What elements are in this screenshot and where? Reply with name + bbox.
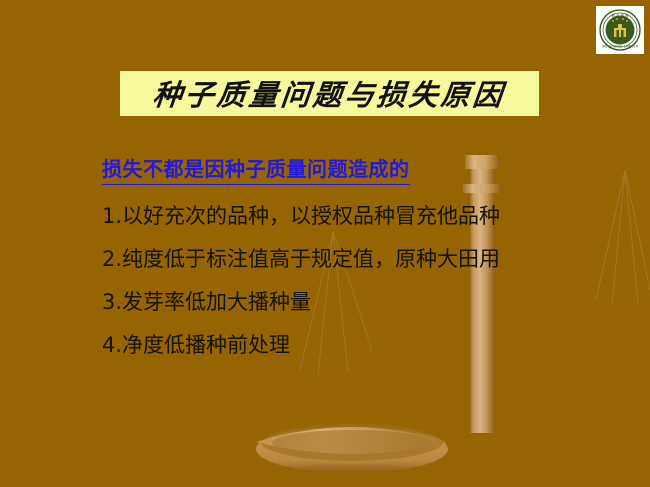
subheading: 损失不都是因种子质量问题造成的 xyxy=(102,154,410,185)
list-item: 1.以好充次的品种，以授权品种冒充他品种 xyxy=(102,195,622,238)
list-item: 4.净度低播种前处理 xyxy=(102,324,622,367)
page-title: 种子质量问题与损失原因 xyxy=(151,72,507,114)
slide-canvas: 和 业 律 师 WUHEBANG LAWYER 种子质量问题与损失原因 损失不都… xyxy=(0,0,650,487)
wuhebang-lawyer-logo: 和 业 律 师 WUHEBANG LAWYER xyxy=(596,6,644,54)
seal-icon: 和 业 律 师 WUHEBANG LAWYER xyxy=(596,6,644,54)
title-banner: 种子质量问题与损失原因 xyxy=(120,71,539,116)
svg-text:WUHEBANG LAWYER: WUHEBANG LAWYER xyxy=(602,45,639,49)
list-item: 3.发芽率低加大播种量 xyxy=(102,281,622,324)
content-block: 损失不都是因种子质量问题造成的 1.以好充次的品种，以授权品种冒充他品种 2.纯… xyxy=(102,154,622,367)
svg-text:和 业 律 师: 和 业 律 师 xyxy=(612,13,629,18)
list-item: 2.纯度低于标注值高于规定值，原种大田用 xyxy=(102,238,622,281)
